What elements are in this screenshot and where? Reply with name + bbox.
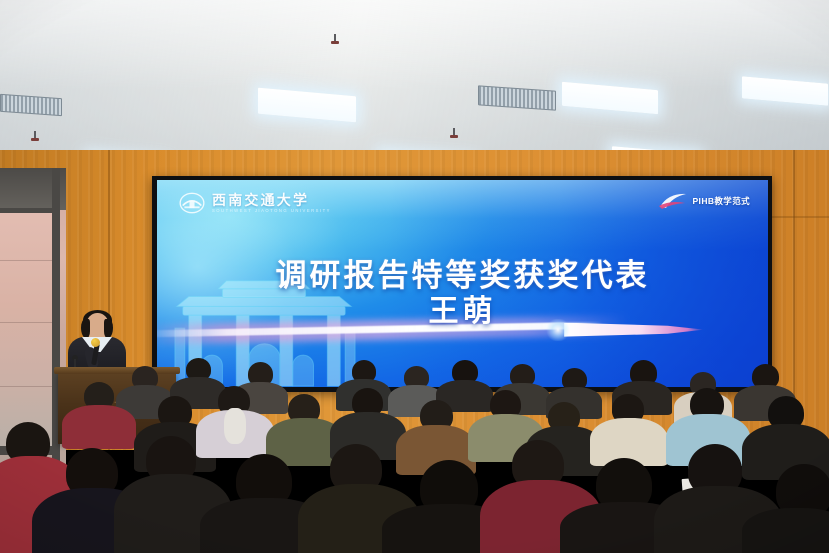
speaker-hair-side [81,319,90,338]
program-logo: PIHB教学范式 [658,191,750,211]
pihb-swoosh-icon [658,191,688,211]
university-logo: 西南交通大学 SOUTHWEST JIAOTONG UNIVERSITY [179,192,331,214]
speaker-hair-side [104,319,113,338]
university-name-en: SOUTHWEST JIAOTONG UNIVERSITY [212,209,331,213]
university-emblem-icon [179,192,205,214]
program-logo-text: PIHB教学范式 [692,195,750,207]
audience [0,352,829,553]
university-name-cn: 西南交通大学 [212,193,331,207]
sprinkler-head [333,34,337,46]
wall-seam [772,216,829,218]
sprinkler-head [33,131,37,143]
audience-shoulders [742,508,829,553]
window-mullion [0,208,60,213]
slide-subtitle: 王萌 [157,286,768,330]
sprinkler-head [452,128,456,140]
hair-clip [224,408,246,444]
microphone-icon [91,338,100,347]
audience-shoulders [62,405,136,449]
lecture-hall-photo: 西南交通大学 SOUTHWEST JIAOTONG UNIVERSITY PIH… [0,0,829,553]
